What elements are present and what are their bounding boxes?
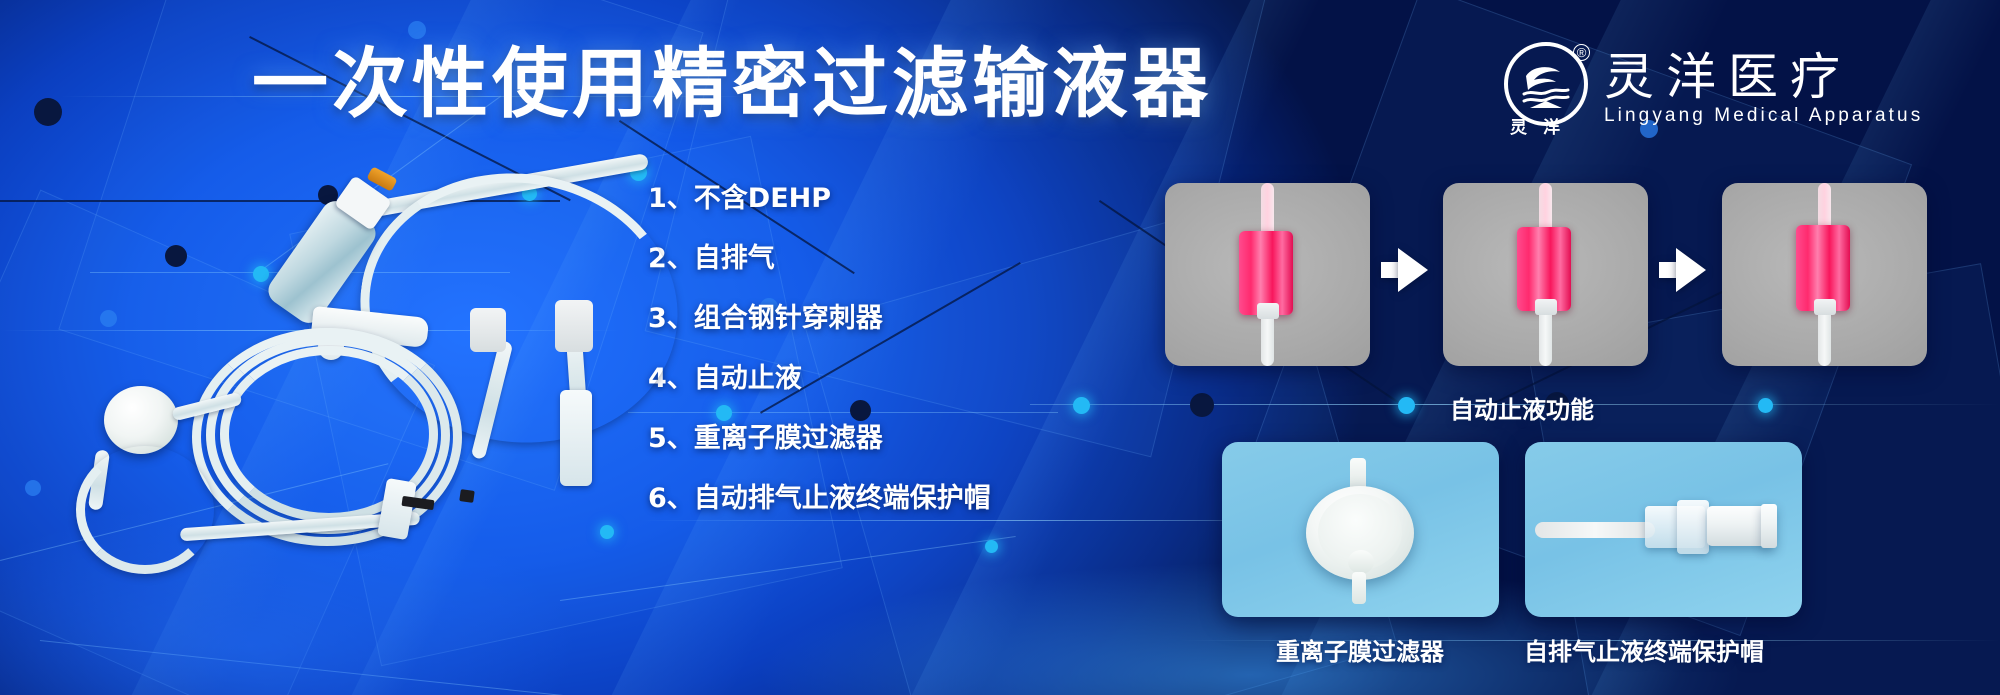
logo-emblem-icon: ® 灵洋 [1500,42,1586,134]
sequence-arrow-2 [1676,248,1706,292]
connector [1535,299,1557,315]
brand-text: 灵洋医疗 Lingyang Medical Apparatus [1604,51,1923,125]
network-line [40,640,597,695]
brand-name-en: Lingyang Medical Apparatus [1604,106,1923,125]
terminal-cap-white-cap [1707,506,1769,546]
registered-trademark-icon: ® [1573,44,1590,61]
brand-logo: ® 灵洋 灵洋医疗 Lingyang Medical Apparatus [1500,42,1923,134]
product-photo [30,150,670,550]
detail-caption-filter: 重离子膜过滤器 [1276,632,1444,667]
feature-item: 2、自排气 [648,228,991,288]
product-banner: 一次性使用精密过滤输液器 ® 灵洋 灵洋医疗 Lingyang Medical … [0,0,2000,695]
filter-outlet-nub [1352,572,1366,604]
network-node [34,98,62,126]
sequence-frame-2[interactable] [1443,183,1648,366]
network-node [985,540,998,553]
filter-outlet-port [1348,550,1374,574]
feature-list: 1、不含DEHP 2、自排气 3、组合钢针穿刺器 4、自动止液 5、重离子膜过滤… [648,168,991,528]
network-node [1398,397,1415,414]
network-node [408,21,426,39]
feature-item: 6、自动排气止液终端保护帽 [648,468,991,528]
clear-tube [1535,522,1655,538]
network-node [1758,398,1773,413]
connector [1257,303,1279,319]
brand-name-cn: 灵洋医疗 [1604,51,1923,104]
network-node [1190,393,1214,417]
page-title: 一次性使用精密过滤输液器 [252,46,1212,122]
protective-cap [560,390,592,486]
detail-panel-filter[interactable] [1222,442,1499,617]
sequence-arrow-1 [1398,248,1428,292]
sequence-caption: 自动止液功能 [1450,390,1594,425]
feature-item: 5、重离子膜过滤器 [648,408,991,468]
luer-connector [555,300,593,352]
sequence-frame-3[interactable] [1722,183,1927,366]
membrane-filter-disc [104,386,178,454]
logo-emblem-label: 灵洋 [1500,113,1586,138]
sequence-frame-1[interactable] [1165,183,1370,366]
feature-item: 1、不含DEHP [648,168,991,228]
tube-arc [76,446,214,574]
detail-caption-cap: 自排气止液终端保护帽 [1524,632,1764,667]
terminal-cap-collar [1677,500,1709,554]
terminal-cap-tip [1761,504,1777,548]
feature-item: 3、组合钢针穿刺器 [648,288,991,348]
network-node [1073,397,1090,414]
detail-panel-cap[interactable] [1525,442,1802,617]
needle-wing-tab [459,489,475,503]
y-connector [470,308,506,352]
feature-item: 4、自动止液 [648,348,991,408]
tubing-coil [192,328,462,546]
connector [1814,299,1836,315]
